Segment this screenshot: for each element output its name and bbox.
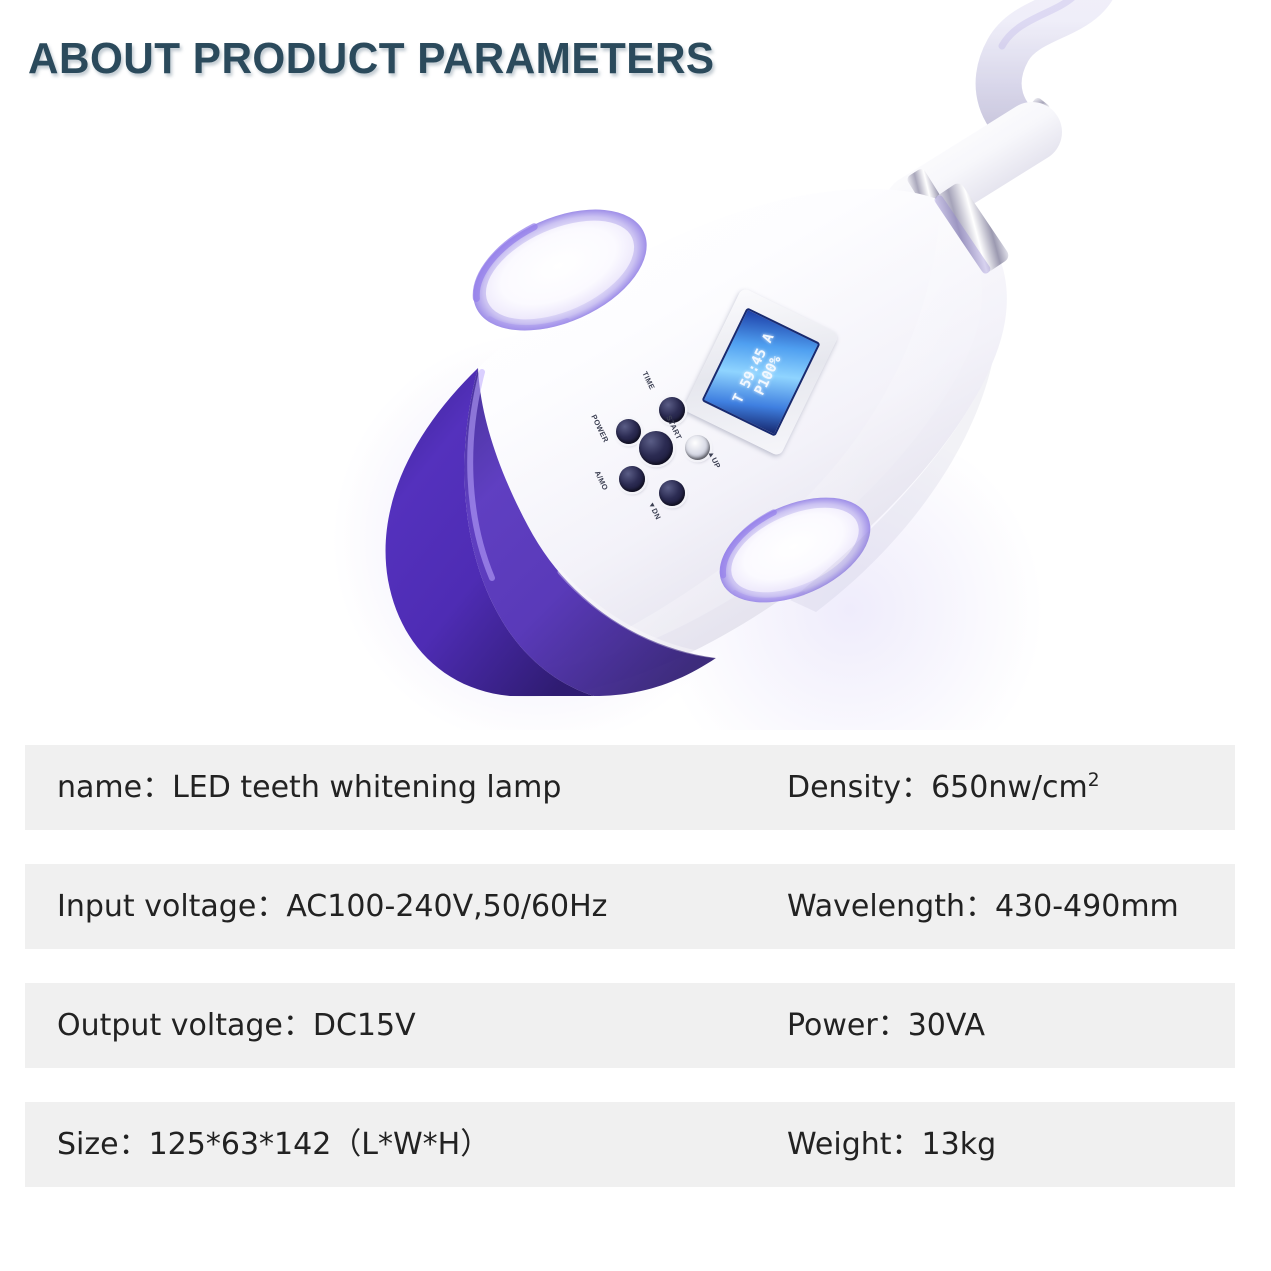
auto-manual-button-label: A/MO: [593, 469, 610, 492]
spec-value-name: LED teeth whitening lamp: [172, 770, 561, 805]
time-button-label: TIME: [640, 370, 656, 391]
spec-cell-weight: Weight：13kg: [787, 1130, 996, 1160]
spec-value-input-voltage: AC100-240V,50/60Hz: [286, 889, 607, 924]
spec-cell-power: Power：30VA: [787, 1011, 985, 1041]
up-button-label: ▲UP: [706, 449, 722, 470]
lcd-display: T 59:45 A P100%: [683, 287, 840, 457]
spec-cell-name: name：LED teeth whitening lamp: [25, 773, 787, 803]
spec-cell-size: Size：125*63*142（L*W*H）: [25, 1130, 787, 1160]
lcd-readout: T 59:45 A P100%: [730, 331, 792, 413]
table-row: name：LED teeth whitening lamp Density：65…: [25, 745, 1235, 830]
spec-value-weight: 13kg: [922, 1127, 997, 1162]
spec-label-name: name：: [57, 770, 172, 805]
table-row: Output voltage：DC15V Power：30VA: [25, 983, 1235, 1068]
spec-value-size: 125*63*142（L*W*H）: [149, 1127, 491, 1162]
down-button[interactable]: [659, 480, 685, 506]
spec-value-density-exponent: 2: [1088, 770, 1100, 791]
start-button[interactable]: [639, 431, 673, 465]
spec-value-power: 30VA: [908, 1008, 985, 1043]
table-row: Size：125*63*142（L*W*H） Weight：13kg: [25, 1102, 1235, 1187]
spec-cell-output-voltage: Output voltage：DC15V: [25, 1011, 787, 1041]
auto-manual-button[interactable]: [619, 466, 645, 492]
spec-cell-density: Density：650nw/cm2: [787, 772, 1100, 803]
power-button-label: POWER: [589, 413, 610, 444]
spec-label-weight: Weight：: [787, 1127, 922, 1162]
spec-cell-wavelength: Wavelength：430-490mm: [787, 892, 1179, 922]
spec-label-wavelength: Wavelength：: [787, 889, 995, 924]
power-button[interactable]: [616, 419, 641, 444]
spec-label-power: Power：: [787, 1008, 908, 1043]
spec-value-output-voltage: DC15V: [313, 1008, 416, 1043]
spec-label-output-voltage: Output voltage：: [57, 1008, 313, 1043]
spec-label-input-voltage: Input voltage：: [57, 889, 286, 924]
product-parameters-page: ABOUT PRODUCT PARAMETERS: [0, 0, 1271, 1271]
table-row: Input voltage：AC100-240V,50/60Hz Wavelen…: [25, 864, 1235, 949]
control-panel: T 59:45 A P100% TIME POWER START ▲UP A/M…: [575, 290, 865, 540]
spec-value-density: 650nw/cm: [931, 770, 1088, 805]
down-button-label: ▼DN: [646, 500, 662, 521]
spec-label-density: Density：: [787, 770, 931, 805]
spec-value-wavelength: 430-490mm: [995, 889, 1179, 924]
spec-label-size: Size：: [57, 1127, 149, 1162]
specification-table: name：LED teeth whitening lamp Density：65…: [25, 745, 1235, 1221]
product-photo: T 59:45 A P100% TIME POWER START ▲UP A/M…: [0, 0, 1271, 730]
up-button[interactable]: [685, 435, 710, 460]
spec-cell-input-voltage: Input voltage：AC100-240V,50/60Hz: [25, 892, 787, 922]
